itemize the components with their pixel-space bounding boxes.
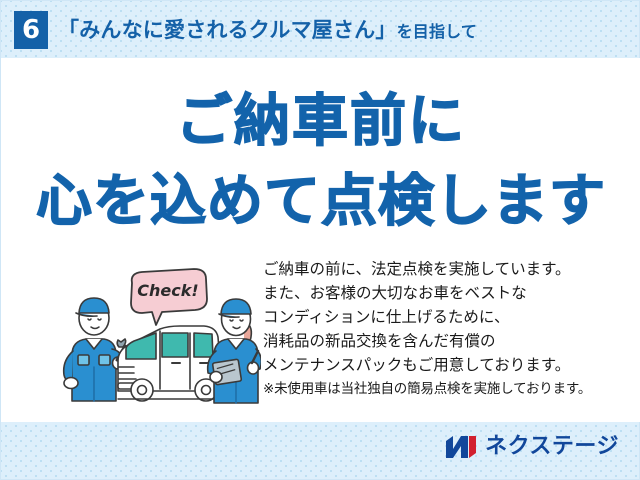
slide-header: 6 「みんなに愛されるクルマ屋さん」を目指して	[1, 1, 640, 57]
nextage-logo-text: ネクステージ	[485, 436, 619, 458]
check-bubble-label: Check!	[137, 281, 198, 300]
header-title: 「みんなに愛されるクルマ屋さん」を目指して	[58, 14, 477, 44]
body-line: ご納車の前に、法定点検を実施しています。	[263, 257, 627, 281]
body-line: また、お客様の大切なお車をベストな	[263, 281, 627, 305]
mechanics-illustration: Check!	[56, 263, 261, 408]
body-line: コンディションに仕上げるために、	[263, 305, 627, 329]
body-line: メンテナンスパックもご用意しております。	[263, 353, 627, 377]
body-note: ※未使用車は当社独自の簡易点検を実施しております。	[263, 377, 627, 401]
body-line: 消耗品の新品交換を含んだ有償の	[263, 329, 627, 353]
section-number-badge: 6	[14, 11, 48, 49]
headline-line-1: ご納車前に	[1, 94, 640, 150]
body-copy: ご納車の前に、法定点検を実施しています。 また、お客様の大切なお車をベストな コ…	[263, 257, 627, 401]
header-title-main: 「みんなに愛されるクルマ屋さん」	[58, 18, 397, 42]
nextage-n-mark	[444, 434, 478, 460]
advertisement-slide: 6 「みんなに愛されるクルマ屋さん」を目指して ご納車前に 心を込めて点検します…	[0, 0, 640, 480]
slide-footer: ネクステージ	[1, 420, 640, 479]
header-title-sub: を目指して	[397, 22, 478, 41]
content-card: ご納車前に 心を込めて点検します ご納車の前に、法定点検を実施しています。 また…	[1, 58, 640, 422]
mechanic-left-figure	[64, 298, 126, 401]
mechanic-right-figure	[208, 299, 261, 403]
nextage-logo: ネクステージ	[444, 432, 619, 462]
headline-line-2: 心を込めて点検します	[1, 174, 640, 230]
